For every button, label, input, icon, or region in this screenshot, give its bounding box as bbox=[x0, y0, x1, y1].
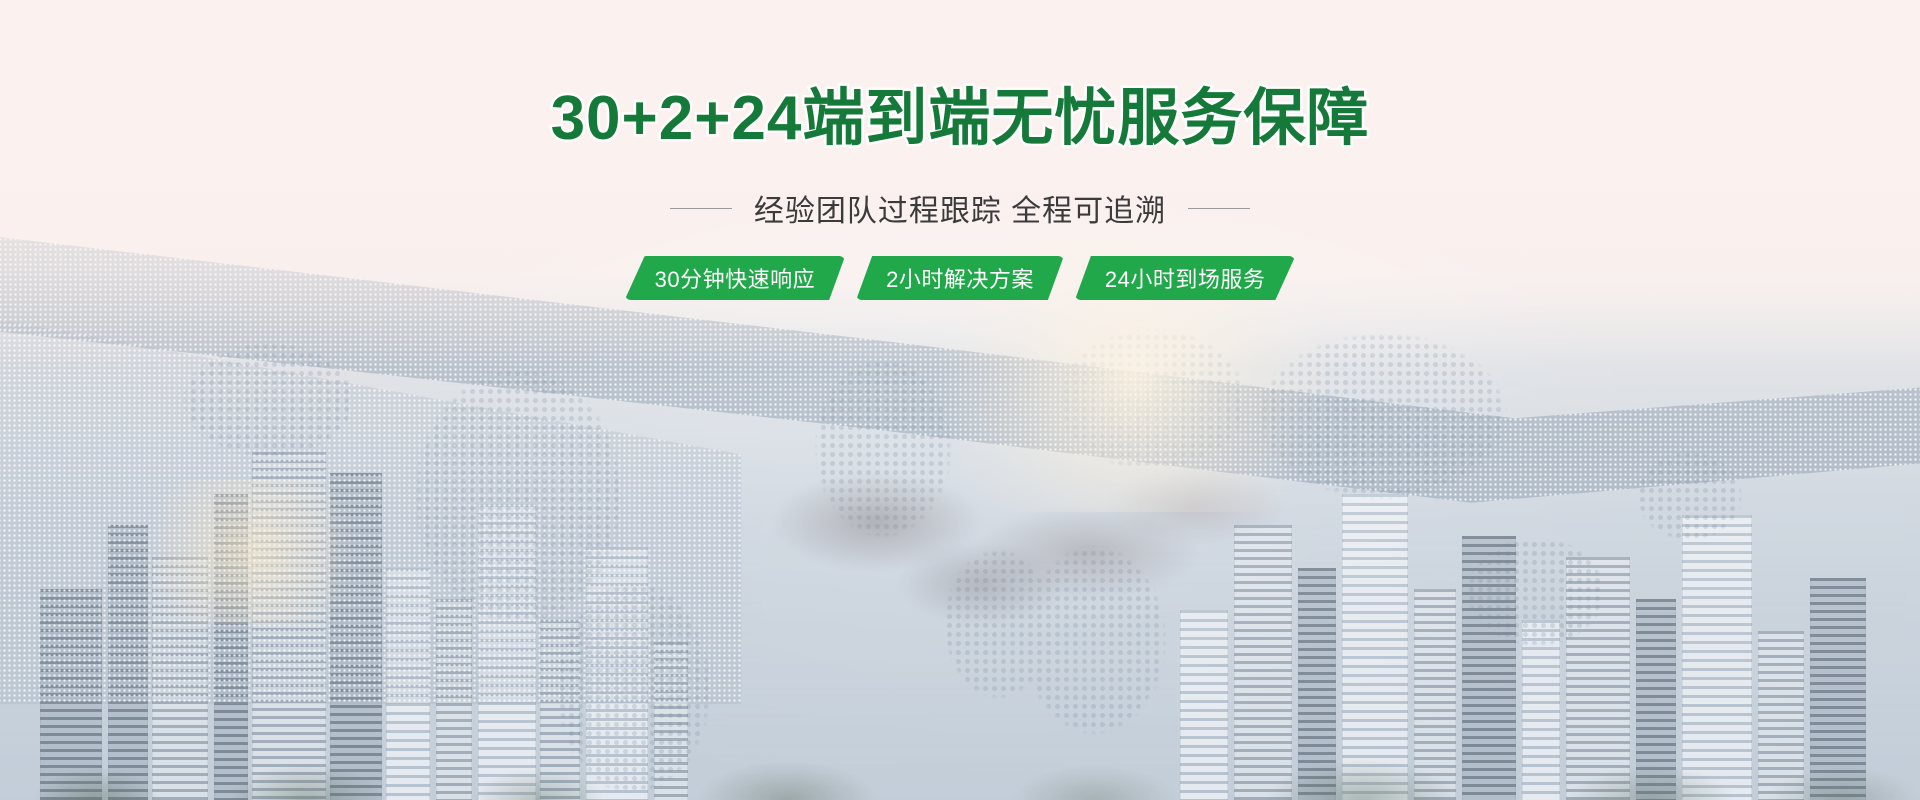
service-badge-response-time[interactable]: 30分钟快速响应 bbox=[625, 256, 845, 300]
divider-line-right bbox=[1188, 208, 1250, 209]
page-title: 30+2+24端到端无忧服务保障 bbox=[551, 88, 1370, 150]
service-badge-list: 30分钟快速响应 2小时解决方案 24小时到场服务 bbox=[625, 256, 1296, 300]
banner-content: 30+2+24端到端无忧服务保障 经验团队过程跟踪 全程可追溯 30分钟快速响应… bbox=[0, 0, 1920, 800]
divider-line-left bbox=[670, 208, 732, 209]
hero-banner: 30+2+24端到端无忧服务保障 经验团队过程跟踪 全程可追溯 30分钟快速响应… bbox=[0, 0, 1920, 800]
service-badge-onsite-time[interactable]: 24小时到场服务 bbox=[1075, 256, 1295, 300]
subtitle-text: 经验团队过程跟踪 全程可追溯 bbox=[754, 186, 1166, 230]
subtitle-row: 经验团队过程跟踪 全程可追溯 bbox=[670, 186, 1250, 230]
service-badge-solution-time[interactable]: 2小时解决方案 bbox=[856, 256, 1064, 300]
